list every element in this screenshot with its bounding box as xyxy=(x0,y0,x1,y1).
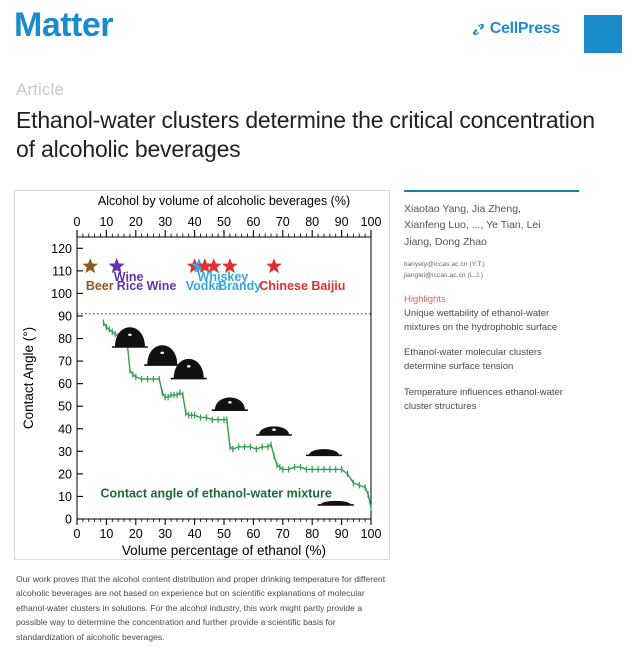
cellpress-wordmark: CellPress xyxy=(490,20,560,38)
y-axis-tick-label: 100 xyxy=(51,287,72,301)
beverage-label: Beer xyxy=(86,279,114,293)
sidebar-divider xyxy=(404,190,579,192)
page-title: Ethanol-water clusters determine the cri… xyxy=(16,106,616,165)
top-axis-tick-label: 60 xyxy=(246,215,260,229)
x-axis-tick-label: 30 xyxy=(158,527,172,541)
top-axis-tick-label: 30 xyxy=(158,215,172,229)
beverage-label: Chinese Baijiu xyxy=(259,279,345,293)
correspondence-email-1[interactable]: tianyely@iccas.ac.cn (Y.T.) xyxy=(404,260,604,271)
author-list: Xiaotao Yang, Jia Zheng, Xianfeng Luo, .… xyxy=(404,201,564,250)
brand-square xyxy=(584,15,622,53)
y-axis-tick-label: 20 xyxy=(58,467,72,481)
droplet-silhouette xyxy=(212,398,248,411)
page-header: Matter CellPress xyxy=(0,0,632,62)
article-sidebar: Xiaotao Yang, Jia Zheng, Xianfeng Luo, .… xyxy=(404,190,604,560)
y-axis-tick-label: 120 xyxy=(51,242,72,256)
x-axis-tick-label: 70 xyxy=(276,527,290,541)
droplet-highlight xyxy=(128,334,132,336)
correspondence-block: tianyely@iccas.ac.cn (Y.T.) jianglei@icc… xyxy=(404,260,604,282)
droplet-silhouette xyxy=(112,327,148,347)
top-axis-tick-label: 90 xyxy=(335,215,349,229)
body-columns: Alcohol by volume of alcoholic beverages… xyxy=(0,190,632,560)
y-axis-tick-label: 70 xyxy=(58,355,72,369)
highlights-heading: Highlights xyxy=(404,294,604,305)
article-type-kicker: Article xyxy=(16,80,632,100)
droplet-silhouette xyxy=(144,345,180,365)
beverage-label: Brandy xyxy=(218,279,261,293)
highlight-item-2: Ethanol-water molecular clusters determi… xyxy=(404,346,572,375)
y-axis-tick-label: 80 xyxy=(58,332,72,346)
droplet-shape xyxy=(309,449,339,455)
beverage-label: Rice Wine xyxy=(117,279,177,293)
y-axis-tick-label: 110 xyxy=(52,264,72,278)
droplet-shape xyxy=(215,398,245,411)
y-axis-tick-label: 30 xyxy=(58,445,72,459)
y-axis-title: Contact Angle (°) xyxy=(21,327,36,429)
droplet-highlight xyxy=(228,401,232,403)
y-axis-tick-label: 10 xyxy=(58,490,72,504)
journal-title: Matter xyxy=(14,8,113,42)
y-axis-tick-label: 40 xyxy=(58,422,72,436)
droplet-highlight xyxy=(272,428,276,430)
x-axis-tick-label: 50 xyxy=(217,527,231,541)
article-summary: Our work proves that the alcohol content… xyxy=(16,572,394,644)
top-axis-tick-label: 70 xyxy=(276,215,290,229)
x-axis-tick-label: 80 xyxy=(305,527,319,541)
droplet-highlight xyxy=(187,365,191,367)
chart-area: Alcohol by volume of alcoholic beverages… xyxy=(15,191,389,559)
top-axis-tick-label: 50 xyxy=(217,215,231,229)
top-axis-tick-label: 40 xyxy=(188,215,202,229)
x-axis-tick-label: 90 xyxy=(335,527,349,541)
droplet-shape xyxy=(147,345,177,365)
x-axis-tick-label: 10 xyxy=(99,527,113,541)
droplet-shape xyxy=(115,327,145,347)
beverage-star-marker xyxy=(82,258,98,273)
beverage-star-marker xyxy=(266,258,282,273)
y-axis-tick-label: 60 xyxy=(58,377,72,391)
top-axis-tick-label: 0 xyxy=(74,215,81,229)
droplet-silhouette xyxy=(256,426,292,435)
series-caption: Contact angle of ethanol-water mixture xyxy=(101,487,332,501)
droplet-shape xyxy=(174,359,204,379)
x-axis-tick-label: 0 xyxy=(74,527,81,541)
y-axis-tick-label: 0 xyxy=(65,513,72,527)
droplet-highlight xyxy=(160,352,164,354)
droplet-silhouette xyxy=(306,449,342,455)
chart-top-axis-title: Alcohol by volume of alcoholic beverages… xyxy=(98,194,350,208)
contact-angle-chart: Alcohol by volume of alcoholic beverages… xyxy=(15,191,389,559)
top-axis-tick-label: 10 xyxy=(99,215,113,229)
correspondence-email-2[interactable]: jianglei@iccas.ac.cn (L.J.) xyxy=(404,271,604,282)
x-axis-tick-label: 100 xyxy=(361,527,382,541)
graphical-abstract-figure: Alcohol by volume of alcoholic beverages… xyxy=(14,190,390,560)
top-axis-tick-label: 100 xyxy=(361,215,382,229)
x-axis-tick-label: 60 xyxy=(246,527,260,541)
cellpress-logo[interactable]: CellPress xyxy=(471,20,560,38)
data-series-line xyxy=(104,323,372,508)
x-axis-tick-label: 20 xyxy=(129,527,143,541)
top-axis-tick-label: 20 xyxy=(129,215,143,229)
cellpress-link-icon xyxy=(471,22,486,37)
x-axis-title: Volume percentage of ethanol (%) xyxy=(122,543,326,558)
highlight-item-3: Temperature influences ethanol-water clu… xyxy=(404,386,572,415)
highlight-item-1: Unique wettability of ethanol-water mixt… xyxy=(404,307,572,336)
droplet-silhouette xyxy=(318,501,354,505)
top-axis-tick-label: 80 xyxy=(305,215,319,229)
y-axis-tick-label: 90 xyxy=(58,309,72,323)
y-axis-tick-label: 50 xyxy=(58,400,72,414)
x-axis-tick-label: 40 xyxy=(188,527,202,541)
